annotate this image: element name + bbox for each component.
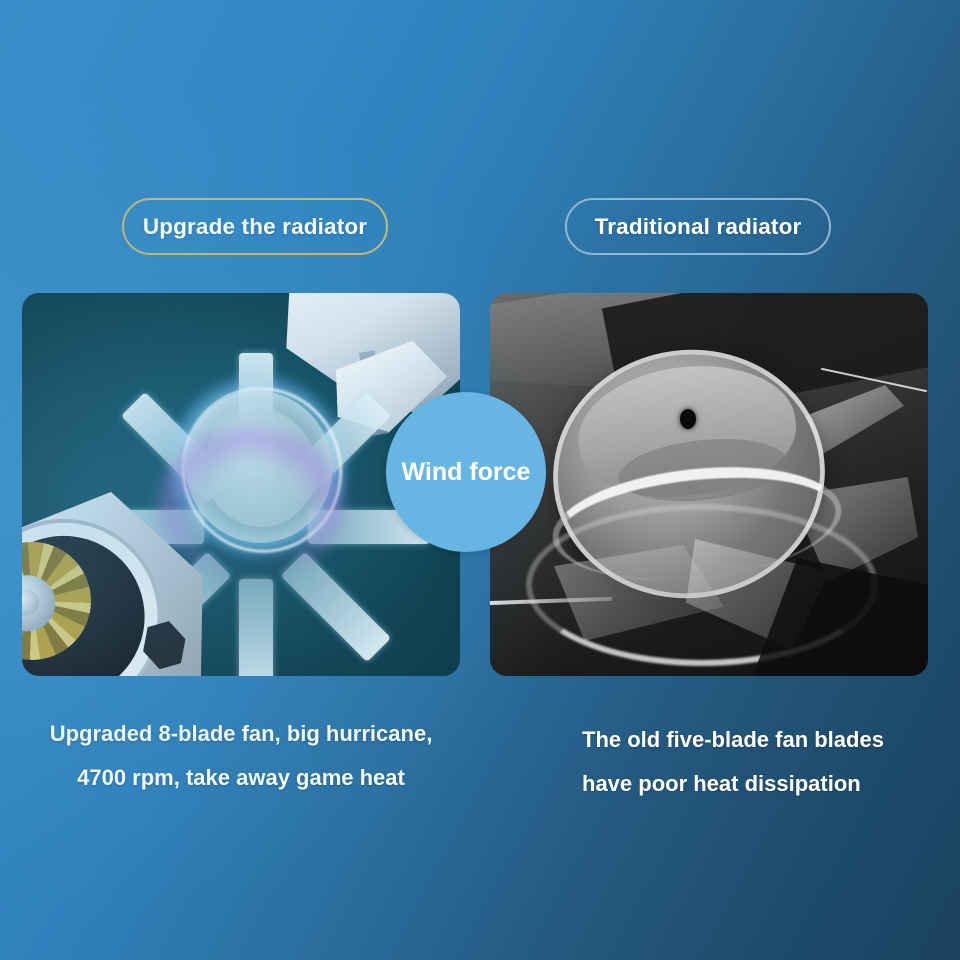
- header-pill-traditional[interactable]: Traditional radiator: [565, 198, 831, 255]
- old-fan-center-screw: [680, 409, 696, 429]
- caption-upgraded-line2: 4700 rpm, take away game heat: [22, 756, 460, 800]
- header-pill-upgraded[interactable]: Upgrade the radiator: [122, 198, 388, 255]
- caption-traditional-line1: The old five-blade fan blades: [582, 718, 922, 762]
- header-pill-upgraded-label: Upgrade the radiator: [143, 214, 367, 240]
- traditional-fan-artwork: [490, 293, 928, 676]
- fan-blade: [239, 579, 273, 676]
- caption-upgraded-line1: Upgraded 8-blade fan, big hurricane,: [22, 712, 460, 756]
- panel-traditional-fan-image: [490, 293, 928, 676]
- caption-upgraded: Upgraded 8-blade fan, big hurricane, 470…: [22, 712, 460, 800]
- caption-traditional-line2: have poor heat dissipation: [582, 762, 922, 806]
- header-pill-traditional-label: Traditional radiator: [595, 214, 802, 240]
- wind-force-badge-label: Wind force: [402, 458, 531, 487]
- wind-force-badge: Wind force: [386, 392, 546, 552]
- caption-traditional: The old five-blade fan blades have poor …: [582, 718, 922, 806]
- comparison-infographic: Upgrade the radiator Traditional radiato…: [0, 0, 960, 960]
